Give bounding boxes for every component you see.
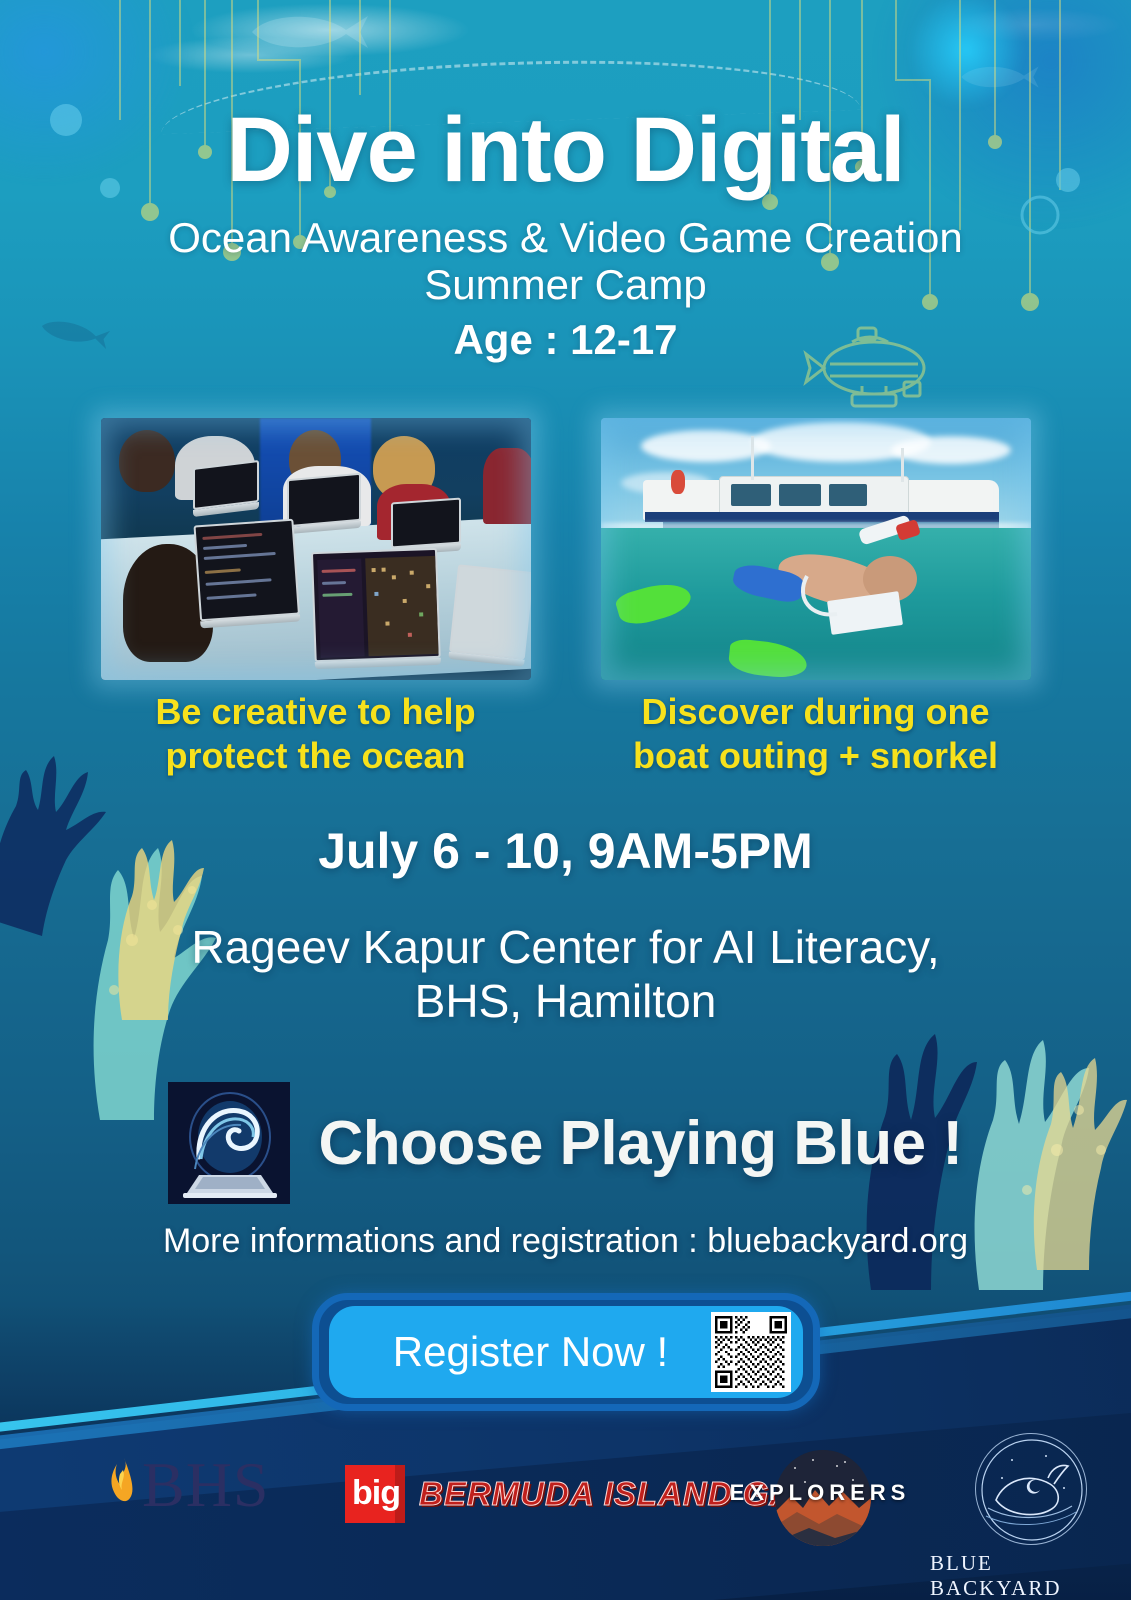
- flame-icon: [108, 1456, 138, 1514]
- age-range-label: Age : 12-17: [0, 316, 1131, 364]
- caption-left: Be creative to help protect the ocean: [101, 690, 531, 778]
- photo-row: [0, 418, 1131, 680]
- registration-qr-code[interactable]: [711, 1312, 791, 1392]
- sponsor-footer: BHS big BERMUDA ISLAND GAMES: [0, 1405, 1131, 1600]
- caption-left-line-1: Be creative to help: [101, 690, 531, 734]
- venue-line-2: BHS, Hamilton: [0, 974, 1131, 1028]
- slogan-text: Choose Playing Blue !: [318, 1108, 962, 1179]
- big-cube-icon: big: [345, 1465, 405, 1523]
- cta-wrap: Register Now !: [0, 1293, 1131, 1411]
- big-cube-text: big: [352, 1474, 400, 1513]
- coding-classroom-photo: [101, 418, 531, 680]
- sponsor-logo-bhs: BHS: [108, 1453, 270, 1517]
- caption-left-line-2: protect the ocean: [101, 734, 531, 778]
- event-venue: Rageev Kapur Center for AI Literacy, BHS…: [0, 920, 1131, 1029]
- poster-header: Dive into Digital Ocean Awareness & Vide…: [0, 0, 1131, 364]
- subtitle-line-2: Summer Camp: [96, 261, 1036, 308]
- more-info-text: More informations and registration : blu…: [0, 1222, 1131, 1261]
- event-dates: July 6 - 10, 9AM-5PM: [0, 822, 1131, 880]
- caption-right-line-1: Discover during one: [601, 690, 1031, 734]
- subtitle-line-1: Ocean Awareness & Video Game Creation: [96, 214, 1036, 261]
- playing-blue-wave-laptop-logo: [168, 1082, 290, 1204]
- sponsor-logo-explorers-wordmark: EXPLORERS: [695, 1480, 945, 1506]
- register-now-button[interactable]: Register Now !: [312, 1293, 820, 1411]
- poster-root: Dive into Digital Ocean Awareness & Vide…: [0, 0, 1131, 1600]
- event-info: July 6 - 10, 9AM-5PM Rageev Kapur Center…: [0, 822, 1131, 1029]
- sponsor-logo-blue-backyard: BLUE BACKYARD The Ocean Belongs To All O…: [930, 1433, 1131, 1600]
- caption-row: Be creative to help protect the ocean Di…: [0, 690, 1131, 778]
- whale-circle-icon: [975, 1433, 1087, 1545]
- sponsor-logo-bb-wordmark: BLUE BACKYARD: [930, 1551, 1131, 1600]
- caption-right: Discover during one boat outing + snorke…: [601, 690, 1031, 778]
- caption-right-line-2: boat outing + snorkel: [601, 734, 1031, 778]
- sponsor-logo-bhs-label: BHS: [142, 1453, 270, 1517]
- poster-subtitle: Ocean Awareness & Video Game Creation Su…: [96, 214, 1036, 308]
- slogan-row: Choose Playing Blue !: [0, 1082, 1131, 1204]
- register-now-button-inner[interactable]: Register Now !: [329, 1306, 803, 1398]
- venue-line-1: Rageev Kapur Center for AI Literacy,: [0, 920, 1131, 974]
- page-title: Dive into Digital: [0, 0, 1131, 196]
- register-now-label: Register Now !: [329, 1328, 711, 1376]
- snorkeling-boat-photo: [601, 418, 1031, 680]
- sponsor-logo-explorers: EXPLORERS: [775, 1450, 871, 1546]
